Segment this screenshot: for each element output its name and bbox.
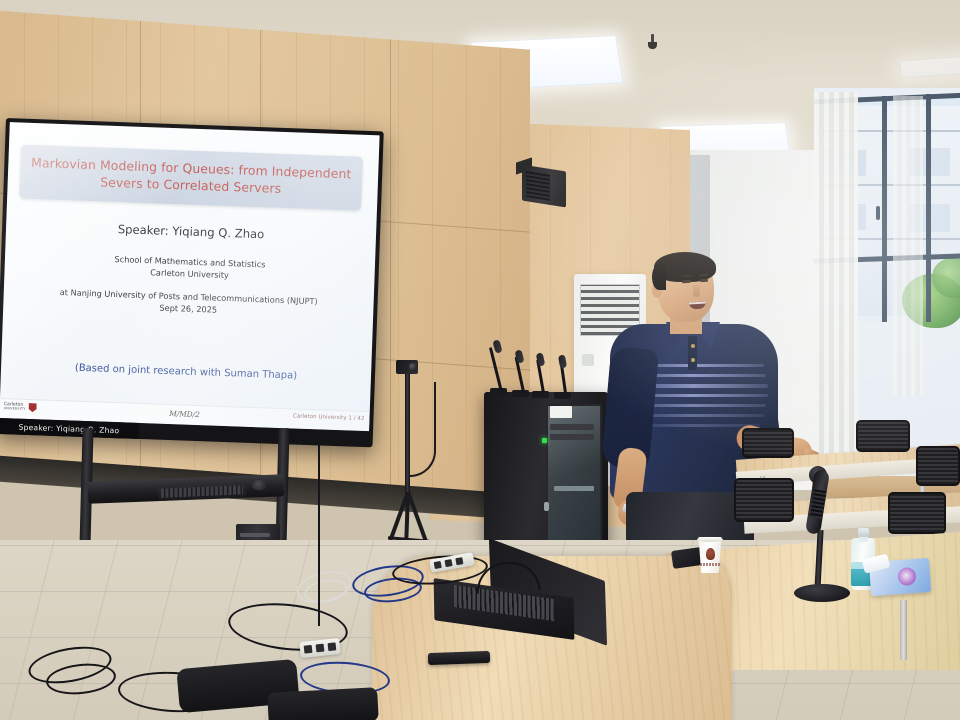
- chair-back-rest-1: [742, 428, 794, 458]
- mic-base-4: [554, 392, 571, 399]
- tripod-cable: [410, 382, 436, 477]
- microphone-stand-pole: [814, 530, 823, 590]
- cable-wall-drop: [318, 436, 326, 626]
- presenter-remote[interactable]: [428, 651, 490, 665]
- rack-label: [550, 406, 572, 418]
- person-hair-side: [652, 264, 666, 290]
- tissue-pack[interactable]: [869, 558, 931, 596]
- curtain-right[interactable]: [893, 96, 923, 396]
- person-eye-left: [682, 280, 691, 284]
- rack-status-led: [542, 438, 547, 443]
- cup-brand-text: [700, 563, 720, 566]
- rack-unit-2: [550, 434, 594, 440]
- chair-seat-foreground-2: [267, 687, 379, 720]
- cart-mouse[interactable]: [252, 480, 267, 490]
- tissue-flower-graphic: [897, 567, 916, 586]
- window-handle[interactable]: [876, 206, 880, 220]
- person-eye-right: [700, 279, 708, 283]
- cup-rim: [697, 537, 723, 542]
- rack-unit-1: [550, 424, 594, 430]
- mic-base-2: [512, 390, 529, 397]
- slide-content: Markovian Modeling for Queues: from Inde…: [0, 122, 380, 431]
- chair-back-rest-5: [888, 492, 946, 534]
- shirt-button-2: [691, 358, 695, 362]
- cup-logo-icon: [706, 548, 715, 560]
- chair-back-rest-2: [856, 420, 910, 452]
- camera-icon: [396, 360, 418, 374]
- bottle-cap: [858, 528, 869, 537]
- microphone-stand-base: [794, 584, 850, 602]
- window-mullion-2: [926, 94, 931, 322]
- wall-speaker-icon: [514, 160, 566, 204]
- presentation-display[interactable]: Markovian Modeling for Queues: from Inde…: [0, 118, 384, 447]
- chair-back-rest-4: [734, 478, 794, 522]
- ceiling-panel-light-3: [899, 56, 960, 79]
- lecture-room-photo: Markovian Modeling for Queues: from Inde…: [0, 0, 960, 720]
- slide-title-block: Markovian Modeling for Queues: from Inde…: [19, 145, 363, 211]
- shirt-button-1: [691, 344, 695, 348]
- coffee-cup[interactable]: [697, 537, 723, 575]
- slide-joint-research-note: (Based on joint research with Suman Thap…: [1, 360, 371, 384]
- ac-control-panel[interactable]: [582, 354, 594, 366]
- side-desk-leg: [900, 600, 907, 660]
- chair-back-rest-3: [916, 446, 960, 486]
- shirt-placket: [688, 336, 697, 370]
- slide-speaker-line: Speaker: Yiqiang Q. Zhao: [6, 218, 376, 245]
- mic-base-3: [532, 391, 549, 398]
- rack-shelf: [554, 486, 594, 491]
- person-nose: [693, 285, 700, 297]
- curtain-left[interactable]: [814, 92, 858, 492]
- window-mullion-1: [882, 96, 887, 322]
- slide-title: Markovian Modeling for Queues: from Inde…: [19, 155, 362, 201]
- sprinkler-icon: [648, 34, 657, 50]
- rack-door-lock[interactable]: [544, 502, 549, 511]
